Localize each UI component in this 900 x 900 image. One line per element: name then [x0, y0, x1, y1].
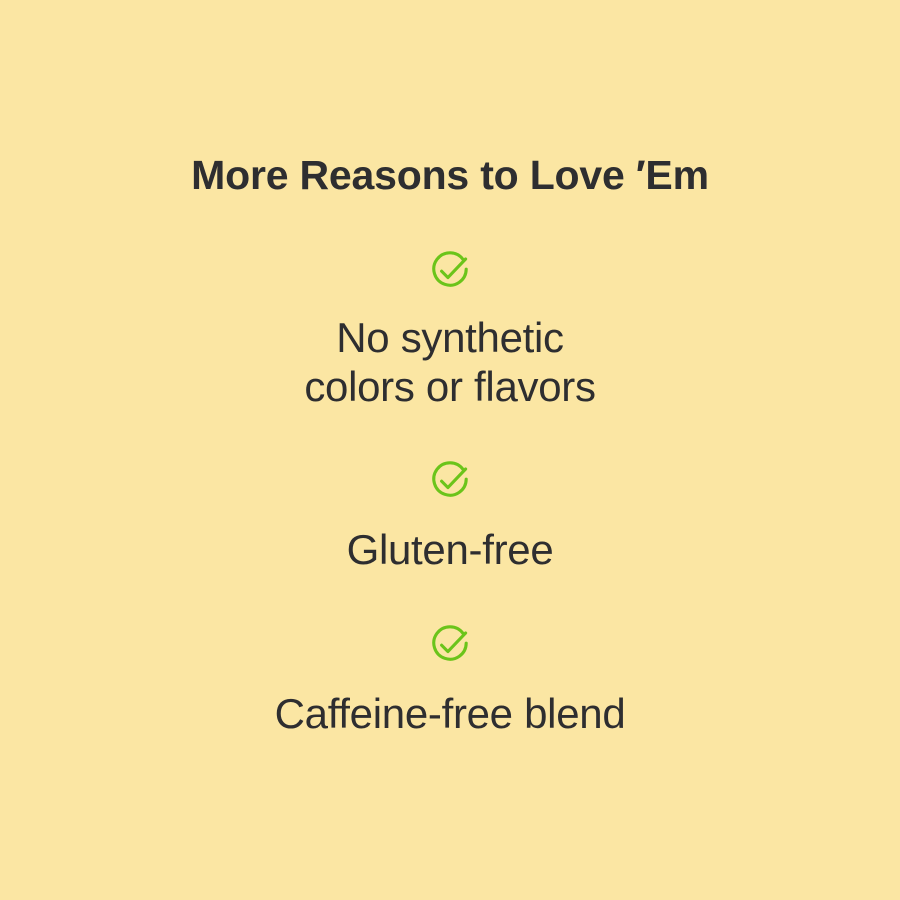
product-benefits-panel: More Reasons to Love ′Em No synthetic co…	[0, 0, 900, 900]
list-item: No synthetic colors or flavors	[0, 248, 900, 411]
circle-check-icon	[427, 458, 473, 504]
circle-check-icon	[427, 622, 473, 668]
list-item: Gluten-free	[0, 458, 900, 574]
page-title: More Reasons to Love ′Em	[0, 152, 900, 200]
list-item-label: Gluten-free	[347, 525, 554, 574]
list-item-label: Caffeine-free blend	[275, 689, 626, 738]
list-item-label: No synthetic colors or flavors	[304, 313, 595, 411]
circle-check-icon	[427, 248, 473, 294]
list-item: Caffeine-free blend	[0, 622, 900, 738]
benefits-list: No synthetic colors or flavors Gluten-fr…	[0, 248, 900, 739]
